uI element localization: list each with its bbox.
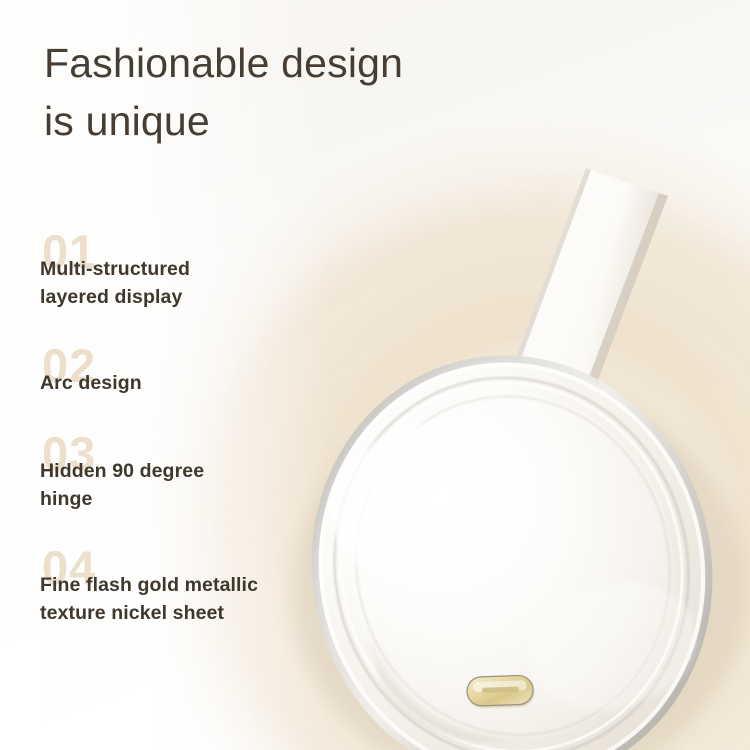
- feature-label-02: Arc design: [40, 342, 350, 397]
- feature-label-03: Hidden 90 degree hinge: [40, 430, 350, 514]
- feature-list: 01 Multi-structured layered display 02 A…: [40, 228, 350, 640]
- feature-label-01: Multi-structured layered display: [40, 228, 350, 312]
- feature-item-01: 01 Multi-structured layered display: [40, 228, 350, 336]
- feature-item-04: 04 Fine flash gold metallic texture nick…: [40, 544, 350, 634]
- page-title: Fashionable design is unique: [44, 34, 604, 150]
- feature-item-02: 02 Arc design: [40, 342, 350, 424]
- product-feature-banner: Fashionable design is unique 01 Multi-st…: [0, 0, 750, 750]
- feature-label-04: Fine flash gold metallic texture nickel …: [40, 544, 340, 628]
- feature-item-03: 03 Hidden 90 degree hinge: [40, 430, 350, 538]
